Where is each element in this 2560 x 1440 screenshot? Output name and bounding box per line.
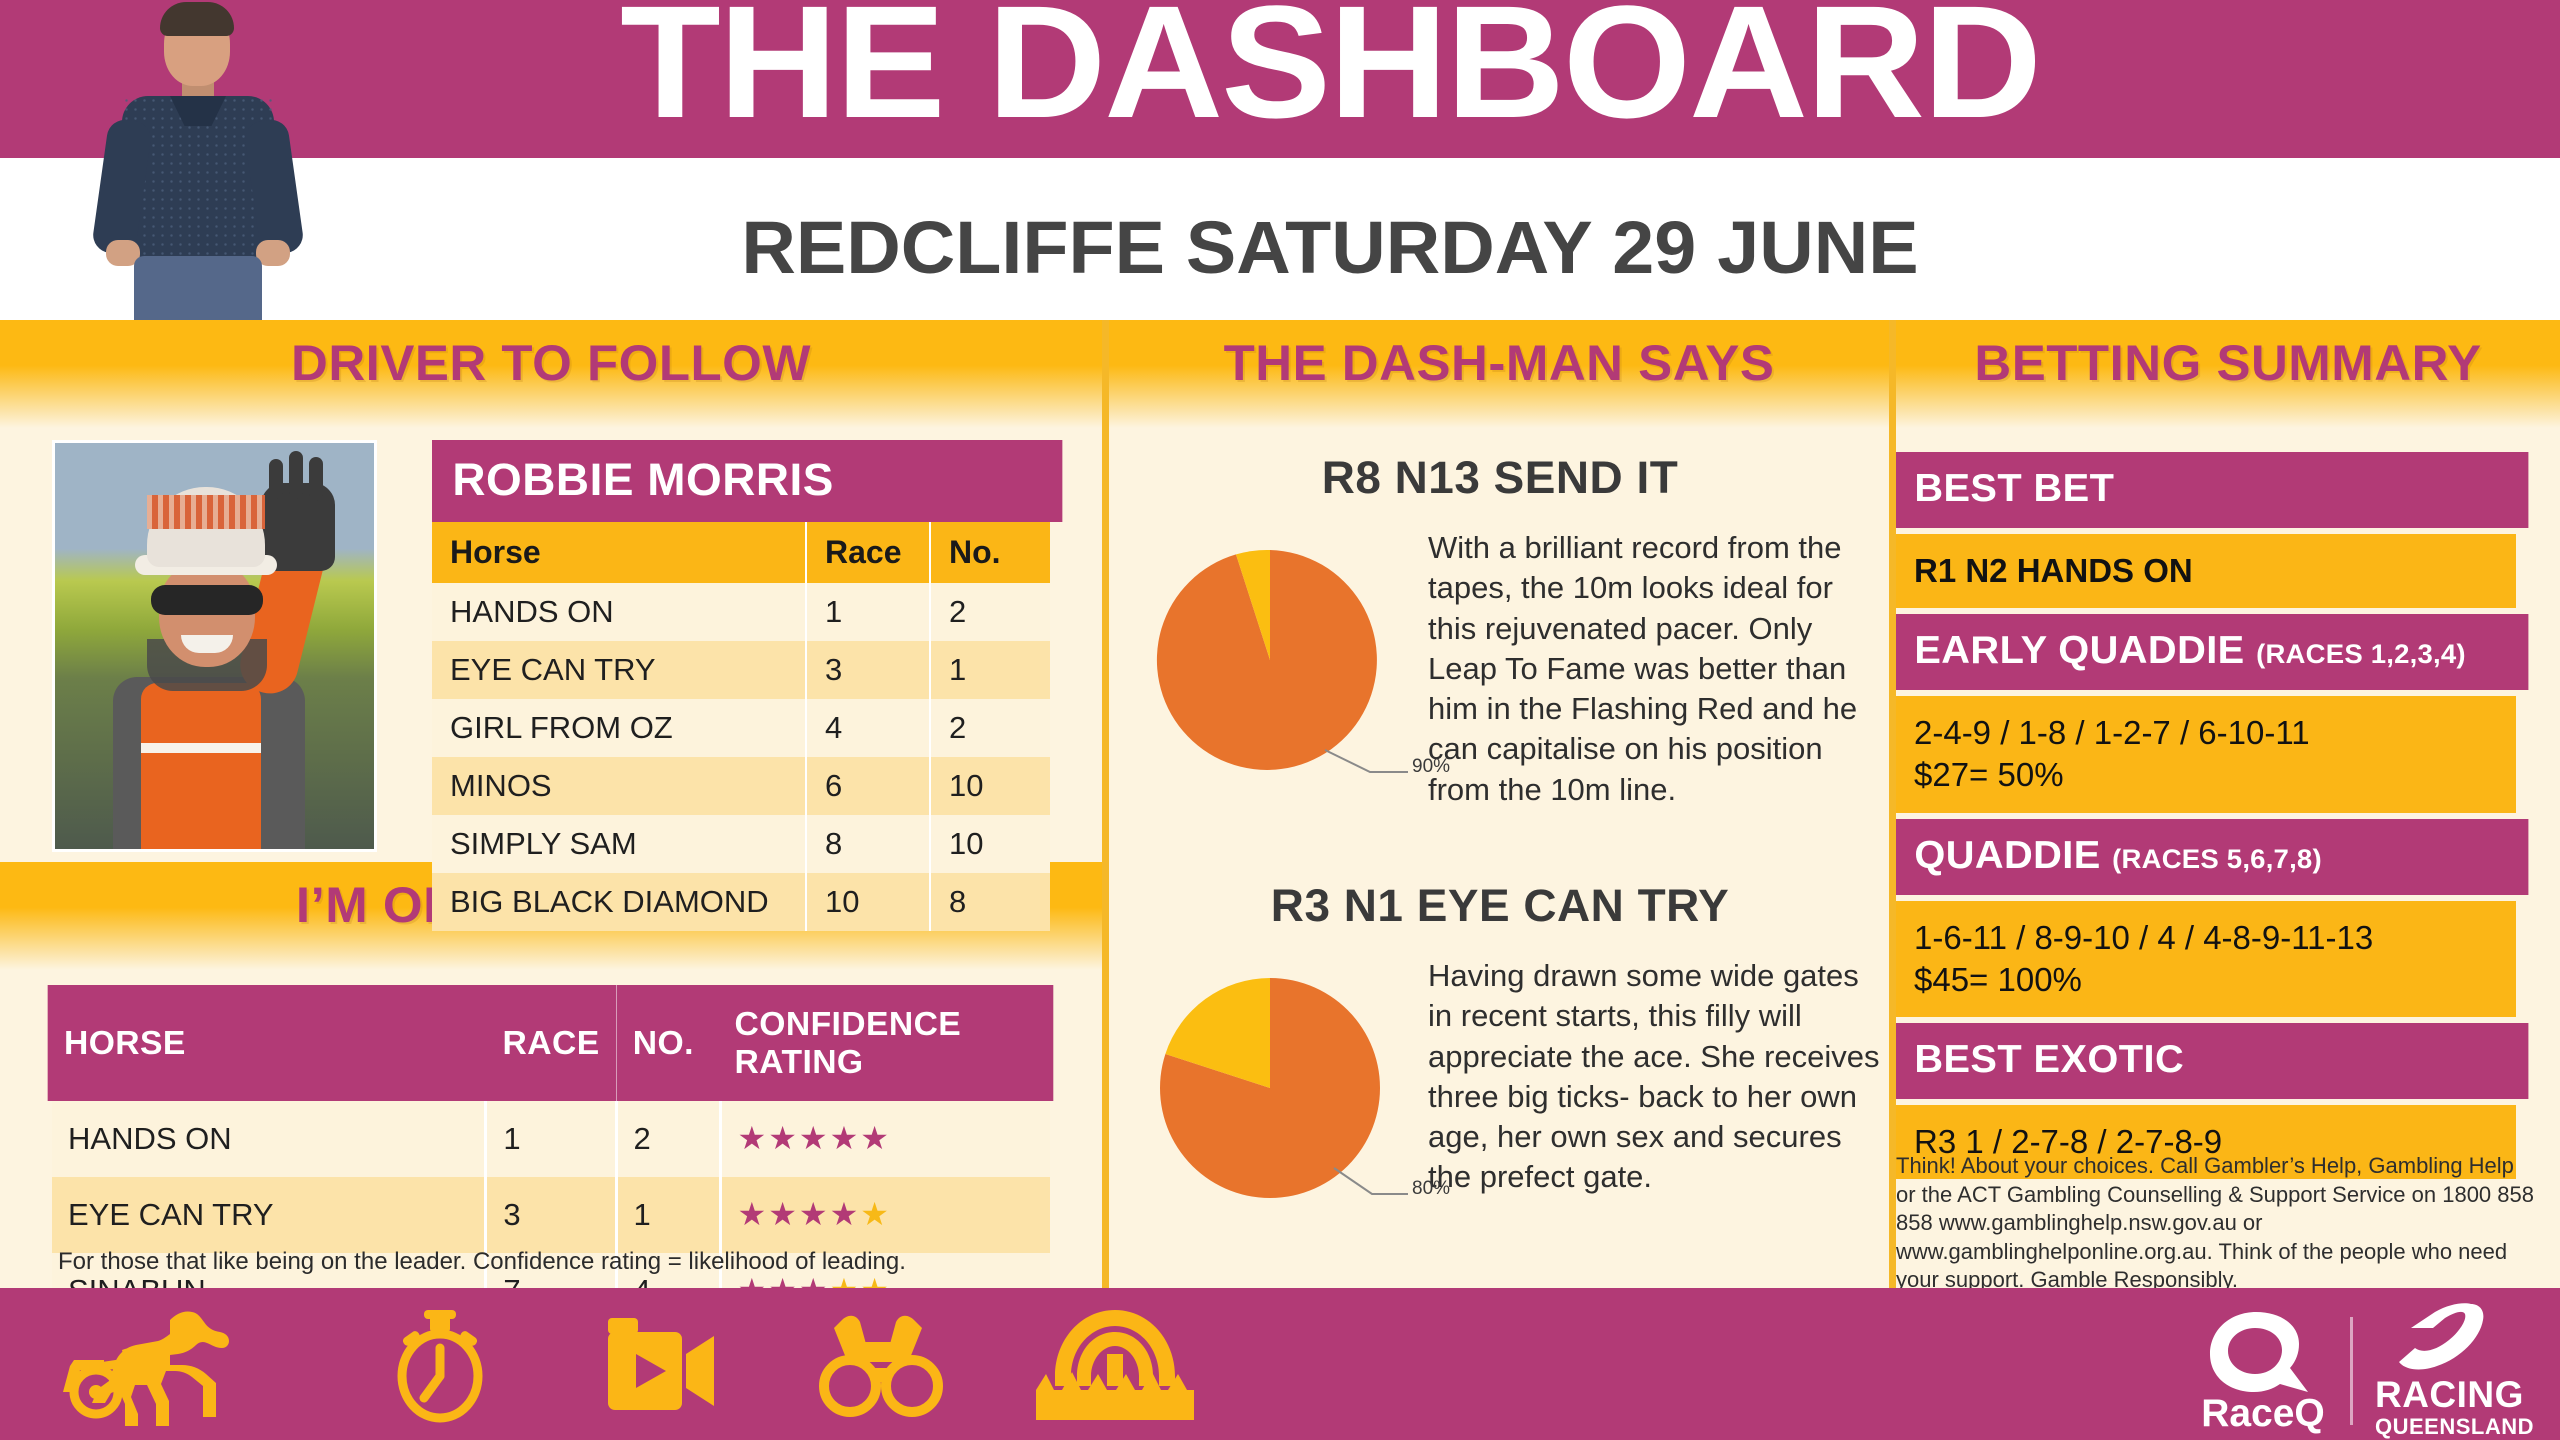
driver-name: ROBBIE MORRIS <box>432 440 1062 522</box>
tip-body: 80% Having drawn some wide gates in rece… <box>1120 956 1880 1221</box>
driver-row-no: 10 <box>930 815 1050 873</box>
pie-svg <box>1120 956 1420 1216</box>
logo-divider <box>2350 1317 2353 1425</box>
racing-wordmark: RACING <box>2375 1376 2524 1413</box>
pie-chart-1: 90% <box>1120 528 1420 793</box>
driver-silks <box>141 683 261 852</box>
quaddie-heading: QUADDIE (RACES 5,6,7,8) <box>1896 819 2528 895</box>
pie-chart-2: 80% <box>1120 956 1420 1221</box>
driver-row-no: 2 <box>930 699 1050 757</box>
driver-photo <box>52 440 377 852</box>
dashboard-page: THE DASHBOARD REDCLIFFE SATURDAY 29 JUNE… <box>0 0 2560 1440</box>
divider-middle-right <box>1889 320 1896 1288</box>
harness-horse-icon <box>52 1306 282 1431</box>
driver-col-race: Race <box>806 522 930 583</box>
leader-col-confidence: CONFIDENCE RATING <box>717 985 1054 1101</box>
driver-section-heading: DRIVER TO FOLLOW <box>0 334 1113 392</box>
early-quaddie-races: (RACES 1,2,3,4) <box>2256 639 2466 669</box>
meeting-subtitle: REDCLIFFE SATURDAY 29 JUNE <box>310 205 2350 290</box>
early-quaddie-heading: EARLY QUADDIE (RACES 1,2,3,4) <box>1896 614 2528 690</box>
divider-left-middle <box>1102 320 1109 1288</box>
racing-queensland-icon <box>2375 1300 2495 1376</box>
driver-row-no: 8 <box>930 873 1050 931</box>
best-bet-value: R1 N2 HANDS ON <box>1896 534 2516 608</box>
pie-percent-label: 90% <box>1412 756 1450 778</box>
early-quaddie-heading-label: EARLY QUADDIE <box>1914 629 2244 672</box>
best-bet-heading-label: BEST BET <box>1914 467 2114 510</box>
leader-col-horse: HORSE <box>48 985 491 1101</box>
leader-row-race: 1 <box>486 1101 616 1177</box>
table-row: EYE CAN TRY 3 1 <box>432 641 1050 699</box>
driver-card: ROBBIE MORRIS Horse Race No. HANDS ON 1 … <box>432 440 1050 931</box>
table-row: MINOS 6 10 <box>432 757 1050 815</box>
leader-col-no: NO. <box>615 985 721 1101</box>
driver-row-no: 2 <box>930 583 1050 641</box>
grandstand-icon <box>1030 1306 1200 1431</box>
driver-row-horse: HANDS ON <box>432 583 806 641</box>
gambling-disclaimer: Think! About your choices. Call Gambler’… <box>1896 1152 2536 1295</box>
quaddie-heading-label: QUADDIE <box>1914 834 2100 877</box>
footer-logos: RaceQ RACING QUEENSLAND <box>2198 1300 2534 1440</box>
raceq-wordmark: RaceQ <box>2201 1392 2325 1436</box>
star-rating: ★★★★★ <box>738 1196 891 1232</box>
presenter-hair <box>160 2 234 36</box>
driver-row-race: 6 <box>806 757 930 815</box>
driver-col-horse: Horse <box>432 522 806 583</box>
table-row: SIMPLY SAM 8 10 <box>432 815 1050 873</box>
tip-block-1: R8 N13 SEND IT 90% With a brilliant reco… <box>1120 452 1880 810</box>
tip-body: 90% With a brilliant record from the tap… <box>1120 528 1880 810</box>
driver-col-no: No. <box>930 522 1050 583</box>
table-row: HANDS ON 1 2 <box>432 583 1050 641</box>
driver-row-race: 4 <box>806 699 930 757</box>
raceq-q-icon <box>2198 1306 2328 1398</box>
racing-queensland-logo: RACING QUEENSLAND <box>2375 1300 2534 1440</box>
presenter-jeans <box>134 256 262 320</box>
table-row: BIG BLACK DIAMOND 10 8 <box>432 873 1050 931</box>
tip-text: With a brilliant record from the tapes, … <box>1420 528 1880 810</box>
pie-leader-line <box>1325 750 1408 772</box>
leader-col-race: RACE <box>485 985 618 1101</box>
dashman-section-heading: THE DASH-MAN SAYS <box>1101 334 1897 392</box>
driver-row-horse: EYE CAN TRY <box>432 641 806 699</box>
driver-glove-finger-1 <box>269 459 283 499</box>
leader-row-horse: HANDS ON <box>52 1101 486 1177</box>
leader-row-no: 2 <box>616 1101 720 1177</box>
tip-title: R8 N13 SEND IT <box>1112 452 1887 504</box>
table-row: HANDS ON 1 2 ★★★★★ <box>52 1101 1050 1177</box>
best-exotic-heading: BEST EXOTIC <box>1896 1023 2528 1099</box>
driver-row-horse: MINOS <box>432 757 806 815</box>
band-driver-to-follow: DRIVER TO FOLLOW <box>0 320 1102 428</box>
early-quaddie-value: 2-4-9 / 1-8 / 1-2-7 / 6-10-11 $27= 50% <box>1896 696 2516 812</box>
star-rating: ★★★★★ <box>738 1120 891 1156</box>
leader-row-race: 3 <box>486 1177 616 1253</box>
tip-text: Having drawn some wide gates in recent s… <box>1420 956 1880 1198</box>
leader-row-rating: ★★★★★ <box>720 1101 1050 1177</box>
best-bet-heading: BEST BET <box>1896 452 2528 528</box>
leader-note: For those that like being on the leader.… <box>58 1248 906 1276</box>
table-row: GIRL FROM OZ 4 2 <box>432 699 1050 757</box>
driver-rides-table: Horse Race No. HANDS ON 1 2 EYE CAN TRY … <box>432 522 1050 931</box>
driver-row-race: 10 <box>806 873 930 931</box>
band-dash-man-says: THE DASH-MAN SAYS <box>1109 320 1889 428</box>
pie-leader-line <box>1334 1168 1408 1194</box>
leader-row-horse: EYE CAN TRY <box>52 1177 486 1253</box>
binoculars-icon <box>816 1306 946 1431</box>
quaddie-races: (RACES 5,6,7,8) <box>2112 844 2322 874</box>
pie-svg <box>1120 528 1420 788</box>
driver-table-body: HANDS ON 1 2 EYE CAN TRY 3 1 GIRL FROM O… <box>432 583 1050 931</box>
driver-sunglasses <box>151 585 263 615</box>
driver-row-race: 8 <box>806 815 930 873</box>
driver-row-no: 1 <box>930 641 1050 699</box>
video-camera-icon <box>596 1306 726 1431</box>
page-title: THE DASHBOARD <box>300 0 2360 142</box>
driver-row-horse: BIG BLACK DIAMOND <box>432 873 806 931</box>
driver-row-no: 10 <box>930 757 1050 815</box>
tip-block-2: R3 N1 EYE CAN TRY 80% Having drawn some … <box>1120 880 1880 1221</box>
quaddie-value: 1-6-11 / 8-9-10 / 4 / 4-8-9-11-13 $45= 1… <box>1896 901 2516 1017</box>
driver-glove-finger-3 <box>309 457 323 501</box>
driver-helmet-band <box>147 495 265 529</box>
driver-row-race: 1 <box>806 583 930 641</box>
driver-row-horse: GIRL FROM OZ <box>432 699 806 757</box>
table-row: EYE CAN TRY 3 1 ★★★★★ <box>52 1177 1050 1253</box>
queensland-wordmark: QUEENSLAND <box>2375 1413 2534 1440</box>
leader-row-no: 1 <box>616 1177 720 1253</box>
driver-table-header-row: Horse Race No. <box>432 522 1050 583</box>
driver-row-horse: SIMPLY SAM <box>432 815 806 873</box>
best-exotic-heading-label: BEST EXOTIC <box>1914 1038 2184 1081</box>
driver-glove-finger-2 <box>289 451 303 499</box>
tip-title: R3 N1 EYE CAN TRY <box>1112 880 1887 932</box>
raceq-logo: RaceQ <box>2198 1306 2328 1436</box>
stopwatch-icon <box>380 1306 500 1431</box>
leader-row-rating: ★★★★★ <box>720 1177 1050 1253</box>
presenter-photo <box>78 0 318 320</box>
leader-table-wrap: HORSE RACE NO. CONFIDENCE RATING HANDS O… <box>52 985 1050 1329</box>
pie-percent-label: 80% <box>1412 1178 1450 1200</box>
leader-table-header-row: HORSE RACE NO. CONFIDENCE RATING <box>52 985 1050 1101</box>
leader-table: HORSE RACE NO. CONFIDENCE RATING HANDS O… <box>52 985 1050 1329</box>
driver-row-race: 3 <box>806 641 930 699</box>
band-betting-summary: BETTING SUMMARY <box>1896 320 2560 428</box>
driver-silks-stripe <box>141 743 261 753</box>
betting-summary: BEST BET R1 N2 HANDS ON EARLY QUADDIE (R… <box>1896 452 2516 1185</box>
betting-section-heading: BETTING SUMMARY <box>1889 334 2560 392</box>
